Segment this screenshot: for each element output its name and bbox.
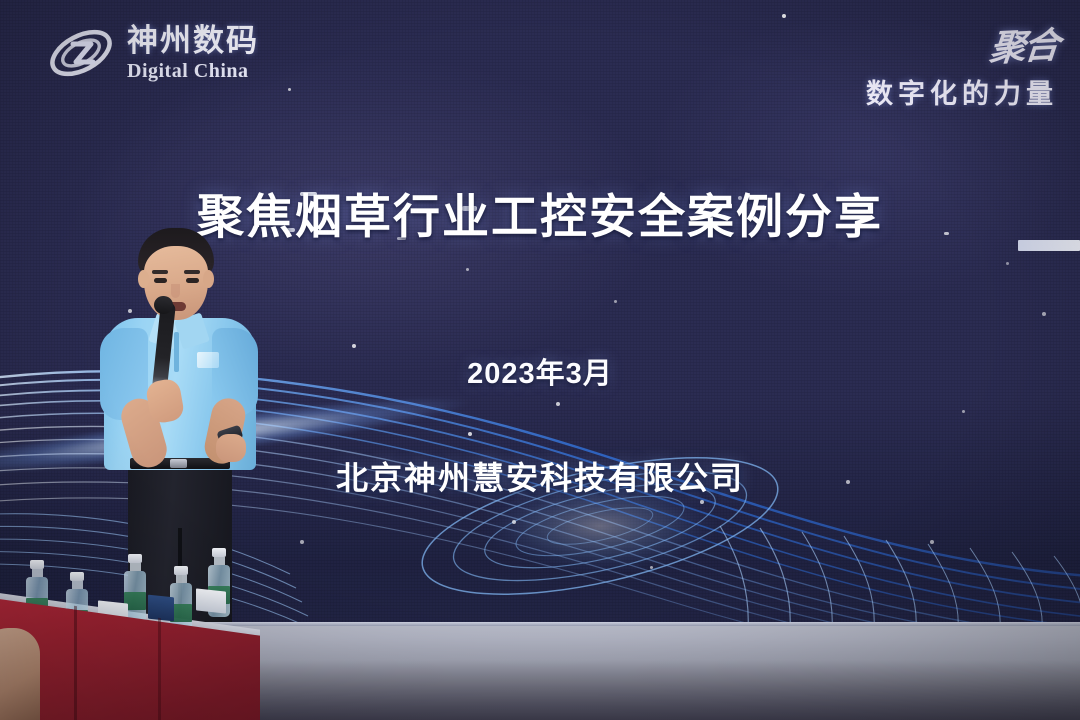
bottle-cap: [174, 566, 188, 575]
table-cloth-fold: [74, 606, 77, 720]
speaker-eyebrow-right: [184, 270, 200, 274]
name-card: [148, 595, 174, 622]
bottle-cap: [70, 572, 84, 581]
bottle-neck: [32, 569, 43, 577]
brand-name-cn: 神州数码: [127, 25, 259, 56]
belt-buckle: [170, 459, 187, 468]
tagline-subtitle: 数字化的力量: [866, 72, 1058, 111]
event-tagline: 聚合 数字化的力量: [866, 18, 1058, 111]
bottle-cap: [212, 548, 226, 557]
speaker-eyebrow-left: [152, 270, 168, 274]
speaker-hand-right: [216, 434, 246, 462]
name-card: [196, 588, 226, 613]
speaker-eye-right: [186, 278, 199, 283]
screen-highlight-bar: [1018, 240, 1080, 251]
shirt-placket: [174, 332, 179, 372]
shirt-chest-logo: [197, 352, 219, 368]
foreground-attendee: [0, 628, 40, 720]
bottle-cap: [128, 554, 142, 563]
bottle-neck: [72, 581, 83, 589]
speaker-ear-left: [138, 270, 149, 288]
bottle-neck: [130, 563, 141, 571]
table-cloth-fold: [158, 618, 161, 720]
speaker-ear-right: [203, 270, 214, 288]
speaker-nose: [171, 284, 180, 298]
conference-stage-photo: 神州数码 Digital China 聚合 数字化的力量 聚焦烟草行业工控安全案…: [0, 0, 1080, 720]
bottle-neck: [214, 557, 225, 565]
speaker-eye-left: [154, 278, 167, 283]
digital-china-swirl-icon: [45, 22, 117, 84]
tagline-calligraphy: 聚合: [987, 16, 1060, 71]
bottle-neck: [176, 575, 187, 583]
bottle-cap: [30, 560, 44, 569]
brand-name-en: Digital China: [127, 61, 259, 81]
brand-logo: 神州数码 Digital China: [45, 22, 259, 84]
